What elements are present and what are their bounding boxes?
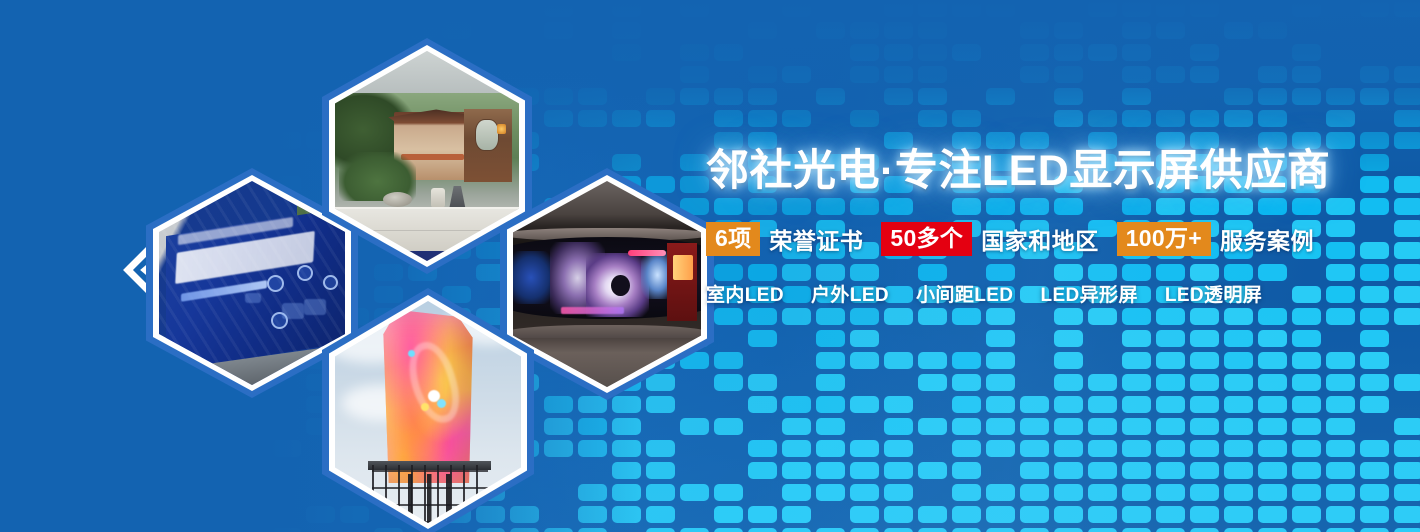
banner-copy-block: 邻社光电·专注LED显示屏供应商 6项 荣誉证书 50多个 国家和地区 100万… [706, 150, 1366, 307]
tag-creative-led[interactable]: LED异形屏 [1040, 280, 1137, 307]
stat-badge-honors: 6项 [706, 222, 760, 256]
stat-label-honors: 荣誉证书 [769, 222, 863, 256]
stat-label-countries: 国家和地区 [981, 222, 1099, 256]
tag-indoor-led[interactable]: 室内LED [706, 280, 784, 307]
banner-headline: 邻社光电·专注LED显示屏供应商 [706, 150, 1366, 193]
stat-label-cases: 服务案例 [1220, 222, 1314, 256]
stat-badge-cases: 100万+ [1117, 222, 1211, 256]
banner-stats-row: 6项 荣誉证书 50多个 国家和地区 100万+ 服务案例 [706, 222, 1366, 256]
stat-badge-countries: 50多个 [881, 222, 972, 256]
led-hero-banner: 邻社光电·专注LED显示屏供应商 6项 荣誉证书 50多个 国家和地区 100万… [0, 0, 1420, 532]
tag-outdoor-led[interactable]: 户外LED [811, 280, 889, 307]
banner-product-tags: 室内LED 户外LED 小间距LED LED异形屏 LED透明屏 [706, 280, 1366, 307]
tag-transparent-led[interactable]: LED透明屏 [1165, 280, 1262, 307]
hexagon-photo-cluster [110, 0, 730, 532]
tag-fine-pitch-led[interactable]: 小间距LED [916, 280, 1013, 307]
